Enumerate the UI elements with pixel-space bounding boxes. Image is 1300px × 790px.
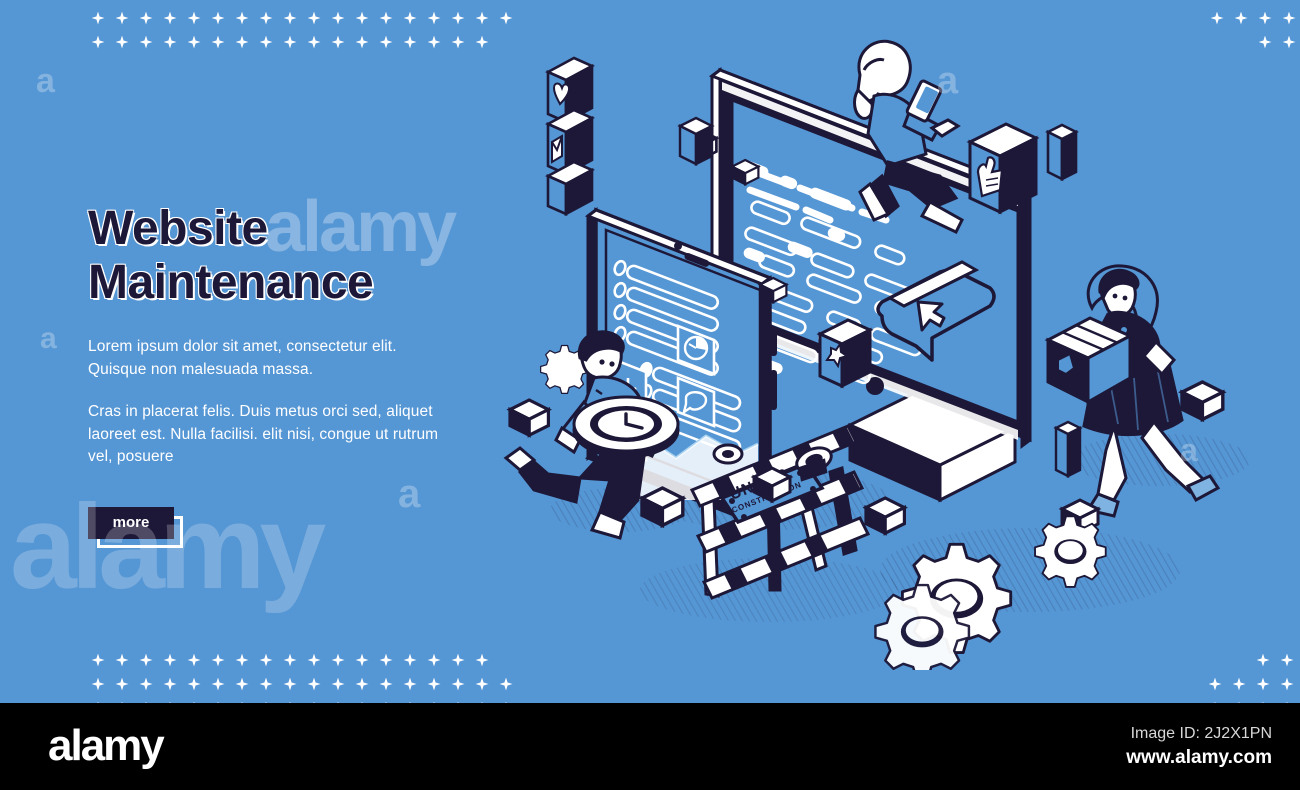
decor-diamond — [206, 696, 230, 703]
decor-diamond — [254, 6, 278, 30]
decor-diamond — [302, 672, 326, 696]
small-block-right — [1048, 125, 1076, 179]
decor-diamond — [1275, 696, 1299, 703]
decor-diamond — [398, 30, 422, 54]
decor-diamond — [398, 696, 422, 703]
decor-diamond — [470, 672, 494, 696]
clock-icon — [574, 397, 678, 457]
decor-diamond — [278, 6, 302, 30]
decor-diamond — [374, 696, 398, 703]
decor-diamond — [1229, 6, 1253, 30]
decor-diamond — [374, 6, 398, 30]
decor-diamond — [494, 6, 518, 30]
decor-diamond — [158, 648, 182, 672]
thumbs-up-icon — [970, 124, 1036, 212]
decor-diamond — [422, 30, 446, 54]
decor-diamond — [398, 672, 422, 696]
decor-diamond — [1203, 672, 1227, 696]
decor-diamond — [278, 696, 302, 703]
decor-diamond — [302, 648, 326, 672]
headline-line-2: Maintenance — [88, 256, 448, 310]
decor-diamond — [86, 696, 110, 703]
decor-diamond — [422, 648, 446, 672]
decor-diamond — [158, 696, 182, 703]
decor-diamond — [182, 672, 206, 696]
decor-diamond — [494, 672, 518, 696]
decor-diamond — [302, 30, 326, 54]
decor-diamond — [446, 696, 470, 703]
icon-stack-left — [548, 58, 592, 214]
decor-diamond — [350, 30, 374, 54]
decor-diamond — [446, 6, 470, 30]
decor-diamond — [1277, 6, 1300, 30]
decor-diamond — [134, 6, 158, 30]
decor-diamond — [134, 672, 158, 696]
decor-diamond — [470, 696, 494, 703]
decor-diamond — [278, 672, 302, 696]
decor-diamond — [1227, 672, 1251, 696]
alamy-footer-bar: alamy Image ID: 2J2X1PN www.alamy.com — [0, 703, 1300, 790]
decor-diamond — [182, 696, 206, 703]
decor-diamond — [182, 6, 206, 30]
decor-diamond — [206, 6, 230, 30]
decor-diamond — [278, 648, 302, 672]
decor-diamond — [350, 696, 374, 703]
decor-diamond — [1203, 696, 1227, 703]
decor-diamond — [1205, 6, 1229, 30]
hero-stage: Website Maintenance Lorem ipsum dolor si… — [0, 0, 1300, 703]
alamy-logo: alamy — [48, 721, 163, 771]
hero-paragraph-1: Lorem ipsum dolor sit amet, consectetur … — [88, 336, 448, 381]
decor-diamond — [446, 648, 470, 672]
decor-diamond — [158, 30, 182, 54]
decor-diamond — [206, 648, 230, 672]
decor-diamond — [254, 648, 278, 672]
decor-diamond — [182, 30, 206, 54]
decor-diamond — [350, 672, 374, 696]
headline-line-1: Website — [88, 202, 448, 256]
hero-paragraph-2: Cras in placerat felis. Duis metus orci … — [88, 401, 448, 468]
decor-diamond — [398, 648, 422, 672]
decor-diamond — [302, 696, 326, 703]
decor-diamond — [326, 6, 350, 30]
watermark-letter: a — [36, 62, 55, 101]
decor-diamond — [326, 648, 350, 672]
decor-diamond — [110, 6, 134, 30]
decor-diamond — [110, 648, 134, 672]
decor-diamond — [86, 6, 110, 30]
page-title: Website Maintenance — [88, 202, 448, 310]
decor-diamond — [86, 672, 110, 696]
decor-diamond — [254, 30, 278, 54]
decor-diamond — [1253, 6, 1277, 30]
decor-diamond — [470, 6, 494, 30]
decor-diamond — [254, 672, 278, 696]
decor-diamond — [134, 696, 158, 703]
decor-diamond — [230, 672, 254, 696]
star-icon — [820, 320, 870, 386]
decor-diamond — [326, 696, 350, 703]
decor-diamond — [110, 696, 134, 703]
decor-diamond — [1275, 672, 1299, 696]
decor-diamond — [422, 672, 446, 696]
decor-diamond — [206, 30, 230, 54]
decor-diamond — [446, 30, 470, 54]
decor-diamond — [134, 30, 158, 54]
decor-diamond — [398, 6, 422, 30]
decor-diamond — [302, 6, 326, 30]
decor-diamond — [158, 672, 182, 696]
image-id-label: Image ID: 2J2X1PN — [1012, 725, 1272, 743]
decor-diamond — [350, 6, 374, 30]
small-lamp — [714, 445, 742, 463]
decor-diamond — [230, 6, 254, 30]
decor-diamond — [110, 30, 134, 54]
decor-diamond — [110, 672, 134, 696]
decor-diamond — [374, 648, 398, 672]
decor-diamond — [326, 672, 350, 696]
decor-diamond — [158, 6, 182, 30]
decor-diamond — [1251, 696, 1275, 703]
alamy-url: www.alamy.com — [1012, 747, 1272, 769]
decor-diamond — [230, 648, 254, 672]
upright-block-a — [1056, 422, 1080, 476]
decor-diamond — [326, 30, 350, 54]
decor-diamond — [494, 696, 518, 703]
decor-dots-top-left — [86, 6, 518, 54]
watermark-letter: a — [40, 322, 57, 356]
isometric-illustration: UNDER CONSTRUCTION — [470, 30, 1300, 670]
decor-diamond — [86, 30, 110, 54]
more-button[interactable]: more — [88, 507, 174, 539]
decor-diamond — [1251, 672, 1275, 696]
decor-diamond — [230, 696, 254, 703]
decor-diamond — [422, 6, 446, 30]
decor-diamond — [374, 30, 398, 54]
decor-diamond — [350, 648, 374, 672]
decor-diamond — [446, 672, 470, 696]
cta-wrapper: more — [88, 507, 186, 541]
decor-diamond — [134, 648, 158, 672]
decor-diamond — [86, 648, 110, 672]
upright-block-b — [680, 118, 712, 164]
decor-diamond — [374, 672, 398, 696]
decor-diamond — [182, 648, 206, 672]
decor-diamond — [230, 30, 254, 54]
decor-diamond — [206, 672, 230, 696]
decor-diamond — [254, 696, 278, 703]
hero-copy: Website Maintenance Lorem ipsum dolor si… — [88, 202, 448, 541]
decor-diamond — [422, 696, 446, 703]
decor-diamond — [278, 30, 302, 54]
decor-dots-bottom-left — [86, 648, 518, 703]
decor-diamond — [1227, 696, 1251, 703]
